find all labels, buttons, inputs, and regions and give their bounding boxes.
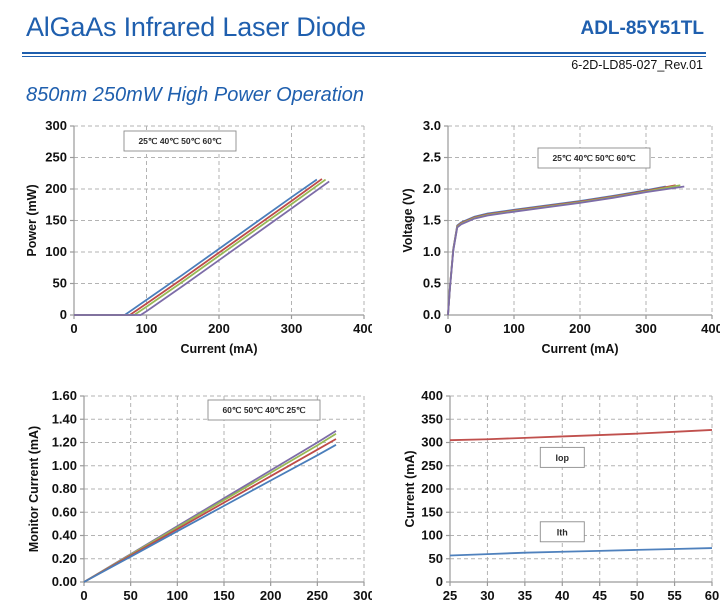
svg-text:60℃ 50℃ 40℃ 25℃: 60℃ 50℃ 40℃ 25℃	[222, 405, 306, 415]
header-rule-lower	[22, 56, 706, 57]
svg-text:300: 300	[45, 118, 67, 133]
svg-text:60: 60	[705, 588, 719, 603]
svg-text:100: 100	[166, 588, 188, 603]
svg-text:1.60: 1.60	[52, 388, 77, 403]
svg-text:50: 50	[630, 588, 644, 603]
chart-power-vs-current: 0501001502002503000100200300400Power (mW…	[22, 118, 372, 363]
svg-text:250: 250	[421, 458, 443, 473]
document-code: 6-2D-LD85-027_Rev.01	[571, 58, 703, 72]
svg-text:100: 100	[45, 244, 67, 259]
svg-text:100: 100	[421, 528, 443, 543]
svg-text:0: 0	[80, 588, 87, 603]
svg-text:30: 30	[480, 588, 494, 603]
svg-text:50: 50	[429, 551, 443, 566]
page-title: AlGaAs Infrared Laser Diode	[26, 12, 366, 43]
svg-text:Monitor Current (mA): Monitor Current (mA)	[27, 426, 41, 552]
part-number: ADL-85Y51TL	[580, 18, 704, 40]
svg-text:300: 300	[635, 321, 657, 336]
svg-text:200: 200	[260, 588, 282, 603]
svg-text:0: 0	[444, 321, 451, 336]
svg-text:400: 400	[421, 388, 443, 403]
svg-text:Iop: Iop	[556, 453, 570, 463]
svg-text:0.80: 0.80	[52, 481, 77, 496]
svg-text:25: 25	[443, 588, 457, 603]
svg-text:2.0: 2.0	[423, 181, 441, 196]
svg-text:50: 50	[123, 588, 137, 603]
svg-text:0: 0	[70, 321, 77, 336]
svg-text:400: 400	[353, 321, 372, 336]
svg-text:1.5: 1.5	[423, 213, 441, 228]
svg-text:0.20: 0.20	[52, 551, 77, 566]
chart-voltage-vs-current: 0.00.51.01.52.02.53.00100200300400Voltag…	[400, 118, 720, 363]
svg-text:Voltage (V): Voltage (V)	[401, 188, 415, 252]
svg-text:Current (mA): Current (mA)	[403, 450, 417, 527]
svg-text:150: 150	[45, 213, 67, 228]
svg-text:0.00: 0.00	[52, 574, 77, 589]
svg-text:35: 35	[518, 588, 532, 603]
svg-text:1.40: 1.40	[52, 411, 77, 426]
svg-text:1.0: 1.0	[423, 244, 441, 259]
svg-text:50: 50	[53, 276, 67, 291]
svg-text:400: 400	[701, 321, 720, 336]
svg-text:40: 40	[555, 588, 569, 603]
svg-text:1.20: 1.20	[52, 435, 77, 450]
datasheet-page: AlGaAs Infrared Laser Diode ADL-85Y51TL …	[0, 0, 727, 612]
svg-text:250: 250	[306, 588, 328, 603]
header-rule-upper	[22, 52, 706, 54]
svg-text:0.60: 0.60	[52, 504, 77, 519]
page-subtitle: 850nm 250mW High Power Operation	[26, 84, 364, 107]
svg-text:200: 200	[45, 181, 67, 196]
page-header: AlGaAs Infrared Laser Diode ADL-85Y51TL	[22, 12, 706, 58]
svg-text:100: 100	[136, 321, 158, 336]
svg-text:3.0: 3.0	[423, 118, 441, 133]
svg-text:0.5: 0.5	[423, 276, 441, 291]
svg-text:200: 200	[569, 321, 591, 336]
chart-iop-ith-vs-temperature: 0501001502002503003504002530354045505560…	[400, 388, 720, 612]
chart-monitor-current-vs-current: 0.000.200.400.600.801.001.201.401.600501…	[22, 388, 372, 612]
svg-text:100: 100	[503, 321, 525, 336]
svg-text:Current (mA): Current (mA)	[180, 342, 257, 356]
svg-text:Power (mW): Power (mW)	[25, 184, 39, 256]
svg-text:0.40: 0.40	[52, 528, 77, 543]
svg-text:Ith: Ith	[557, 527, 568, 537]
svg-text:0.0: 0.0	[423, 307, 441, 322]
svg-text:150: 150	[421, 504, 443, 519]
svg-text:350: 350	[421, 411, 443, 426]
svg-text:300: 300	[421, 435, 443, 450]
svg-text:0: 0	[60, 307, 67, 322]
svg-text:25℃ 40℃ 50℃ 60℃: 25℃ 40℃ 50℃ 60℃	[138, 136, 222, 146]
svg-text:25℃ 40℃ 50℃ 60℃: 25℃ 40℃ 50℃ 60℃	[552, 153, 636, 163]
svg-text:200: 200	[208, 321, 230, 336]
svg-text:0: 0	[436, 574, 443, 589]
svg-text:300: 300	[353, 588, 372, 603]
svg-text:300: 300	[281, 321, 303, 336]
svg-text:45: 45	[592, 588, 606, 603]
svg-text:250: 250	[45, 150, 67, 165]
svg-text:1.00: 1.00	[52, 458, 77, 473]
svg-text:150: 150	[213, 588, 235, 603]
svg-text:2.5: 2.5	[423, 150, 441, 165]
svg-text:55: 55	[667, 588, 681, 603]
svg-text:Current (mA): Current (mA)	[541, 342, 618, 356]
svg-text:200: 200	[421, 481, 443, 496]
